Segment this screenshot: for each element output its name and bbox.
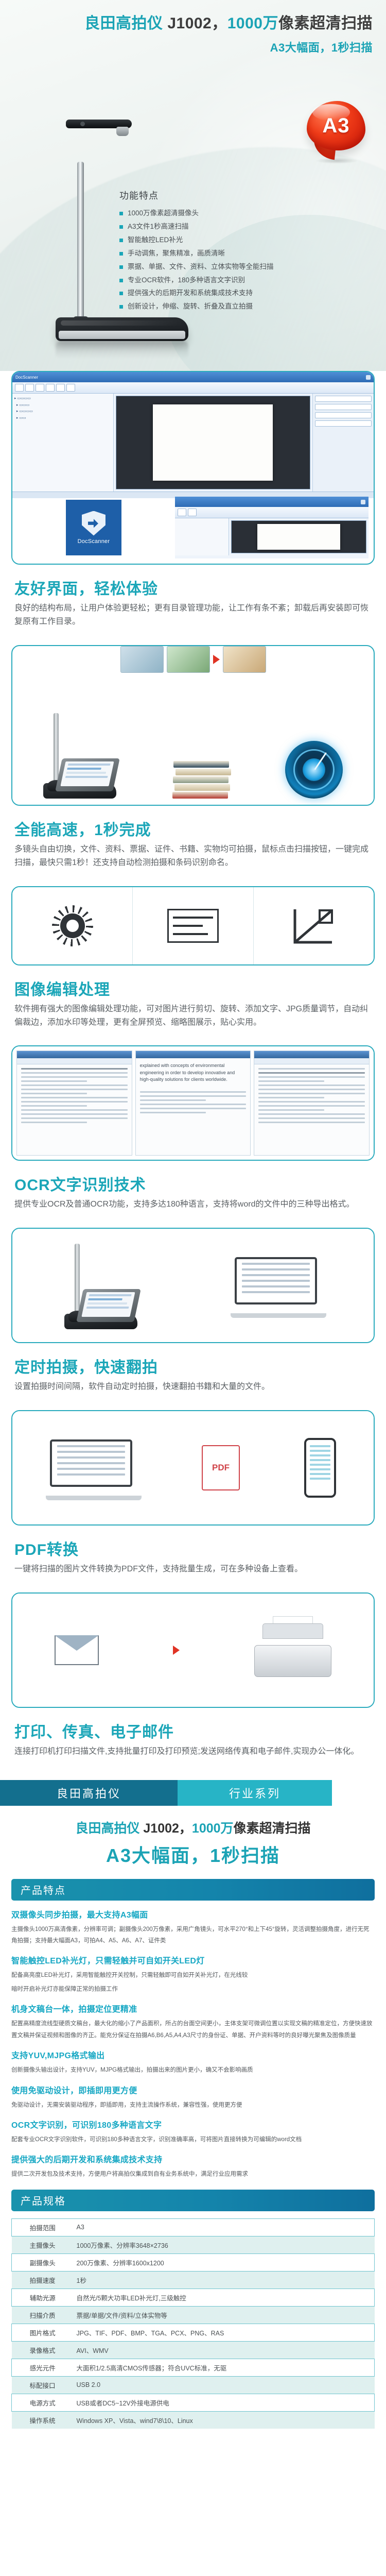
timed-capture-frame — [11, 1228, 375, 1343]
section-heading: OCR文字识别技术 — [14, 1172, 375, 1195]
pdf-illustration-frame: PDF — [11, 1410, 375, 1526]
scanner-column — [75, 1244, 80, 1317]
ocr-panes: explained with concepts of environmental… — [12, 1046, 374, 1160]
spec-value: A3 — [74, 2218, 375, 2236]
book-stack-icon — [172, 749, 233, 799]
scanner-document-pad — [59, 331, 185, 339]
scanner-tray — [56, 758, 120, 791]
feature-title: OCR文字识别，可识别180多种语言文字 — [11, 2118, 375, 2130]
app-main-area — [175, 518, 369, 555]
list-item: 1000万像素超清摄像头 — [119, 207, 356, 220]
spec-value: AVI、WMV — [74, 2341, 375, 2359]
section-friendly-interface: DocScanner ▸ ▭▭▭▭ ▸ ▭▭▭ ▸ ▭▭▭▭ ▸ ▭▭ — [0, 371, 386, 645]
arrow-right-icon — [173, 1646, 180, 1655]
section-heading: 图像编辑处理 — [14, 977, 375, 999]
spec-key: 辅助光源 — [12, 2289, 74, 2306]
app-main-area: ▸ ▭▭▭▭ ▸ ▭▭▭ ▸ ▭▭▭▭ ▸ ▭▭ — [12, 394, 374, 492]
spec-key: 拍摄范围 — [12, 2218, 74, 2236]
spec-value: 自然光/5颗大功率LED补光灯,三级触控 — [74, 2289, 375, 2306]
a3-badge: A3 — [307, 101, 365, 150]
lower-title-block: 良田高拍仪 J1002，1000万像素超清扫描 A3大幅面，1秒扫描 — [0, 1806, 386, 1870]
table-row: 感光元件大面积1/2.5高清CMOS传感器；符合UVC标准，无驱 — [12, 2359, 375, 2376]
gauge-core — [303, 758, 325, 781]
list-item: 票据、单据、文件、资料、立体实物等全能扫描 — [119, 260, 356, 274]
spec-header: 产品规格 — [11, 2190, 375, 2211]
spec-value: 票据/单据/文件/资料/立体实物等 — [74, 2306, 375, 2324]
laptop-icon — [235, 1257, 322, 1314]
product-features-body: 双摄像头同步拍摄，最大支持A3幅面 主摄像头1000万高清像素，分辨率可调；副摄… — [0, 1908, 386, 2180]
table-row: 电源方式USB或者DC5~12V外接电源供电 — [12, 2394, 375, 2411]
ocr-output-pane[interactable] — [254, 1050, 370, 1156]
hero-subtitle: A3大幅面，1秒扫描 — [84, 39, 373, 55]
printer-body — [254, 1645, 331, 1677]
speed-gauge-icon — [285, 741, 343, 799]
speed-illustration-strip — [12, 676, 374, 805]
scanner-device-small — [64, 1242, 142, 1329]
desktop-icon-row: DocScanner — [12, 492, 374, 564]
feature-paragraph: 创新摄像头输出设计，支持YUV，MJPG格式输出，拍摄出来的图片更小，确又不会影… — [11, 2064, 375, 2076]
printer-tray — [262, 1623, 323, 1639]
spec-value: 200万像素、分辨率1600x1200 — [74, 2253, 375, 2271]
a3-badge-label: A3 — [307, 101, 365, 150]
email-envelope-icon — [55, 1635, 99, 1665]
feature-highlights: 功能特点 1000万像素超清摄像头 A3文件1秒高速扫描 智能触控LED补光 手… — [119, 189, 356, 313]
table-row: 操作系统Windows XP、Vista、wind7\8\10、Linux — [12, 2411, 375, 2429]
section-heading: 友好界面，轻松体验 — [14, 576, 375, 599]
receipt-thumbnail — [223, 646, 266, 673]
editing-icons-strip — [12, 887, 374, 964]
window-close-icon[interactable] — [361, 500, 365, 504]
laptop-screen — [235, 1257, 317, 1304]
software-screenshot-frame: DocScanner ▸ ▭▭▭▭ ▸ ▭▭▭ ▸ ▭▭▭▭ ▸ ▭▭ — [11, 371, 375, 565]
list-item: 智能触控LED补光 — [119, 233, 356, 247]
spec-value: USB 2.0 — [74, 2376, 375, 2394]
lower-title-megapixels: 1000万 — [192, 1821, 234, 1836]
spec-key: 扫描介质 — [12, 2306, 74, 2324]
product-detail-page: 良田高拍仪 J1002，1000万像素超清扫描 A3大幅面，1秒扫描 A3 功能… — [0, 0, 386, 2444]
scanned-text-lines — [17, 1064, 132, 1129]
hero-title-block: 良田高拍仪 J1002，1000万像素超清扫描 A3大幅面，1秒扫描 — [84, 13, 373, 55]
app-toolbar — [175, 507, 369, 518]
spec-key: 主摄像头 — [12, 2236, 74, 2253]
feature-title: 使用免驱动设计，即插即用更方便 — [11, 2083, 375, 2096]
feature-title: 双摄像头同步拍摄，最大支持A3幅面 — [11, 1908, 375, 1920]
section-image-editing: 图像编辑处理 软件拥有强大的图像编辑处理功能，可对图片进行剪切、旋转、添加文字、… — [0, 886, 386, 1046]
table-row: 标配接口USB 2.0 — [12, 2376, 375, 2394]
spec-value: JPG、TIF、PDF、BMP、TGA、PCX、PNG、RAS — [74, 2324, 375, 2341]
laptop-icon — [50, 1439, 137, 1496]
docscanner-app-window: DocScanner ▸ ▭▭▭▭ ▸ ▭▭▭ ▸ ▭▭▭▭ ▸ ▭▭ — [12, 372, 374, 492]
table-row: 图片格式JPG、TIF、PDF、BMP、TGA、PCX、PNG、RAS — [12, 2324, 375, 2341]
document-thumbnail — [120, 646, 164, 673]
feature-paragraph: 免驱动设计，无需安装驱动程序，即插即用，支持主流操作系统，兼容性强，使用更方便 — [11, 2099, 375, 2111]
feature-title: 机身文稿台一体，拍摄定位更精准 — [11, 2002, 375, 2014]
ocr-source-pane[interactable] — [16, 1050, 132, 1156]
section-pdf-conversion: PDF PDF转换 一键将扫描的图片文件转换为PDF文件，支持批量生成，可在多种… — [0, 1410, 386, 1592]
list-item: 提供强大的后期开发和系统集成技术支持 — [119, 286, 356, 300]
feature-highlights-title: 功能特点 — [119, 189, 356, 202]
app-titlebar: DocScanner — [12, 372, 374, 382]
app-preview-canvas[interactable] — [231, 520, 366, 553]
hero-title-megapixels: 1000万 — [227, 15, 278, 32]
app-titlebar-label: DocScanner — [15, 375, 38, 380]
spec-key: 电源方式 — [12, 2394, 74, 2411]
scanner-reflection — [56, 341, 188, 359]
crop-icon — [293, 907, 334, 944]
brand-label: 良田高拍仪 — [0, 1780, 178, 1806]
section-body: 良好的结构布局，让用户体验更轻松；更有目录管理功能，让工作有条不紊；卸载后再安装… — [14, 602, 372, 629]
panel-button[interactable] — [315, 420, 372, 427]
list-item: A3文件1秒高速扫描 — [119, 220, 356, 233]
list-item: 创新设计，伸缩、旋转、折叠及直立拍摄 — [119, 300, 356, 313]
recognized-text-preview: explained with concepts of environmental… — [136, 1058, 251, 1088]
panel-button[interactable] — [315, 396, 372, 402]
section-ocr: explained with concepts of environmental… — [0, 1045, 386, 1228]
toolbar-button[interactable] — [188, 509, 197, 516]
preview-document — [257, 524, 341, 550]
app-preview-canvas[interactable] — [116, 396, 310, 489]
app-side-panel — [312, 394, 374, 492]
panel-button[interactable] — [315, 412, 372, 418]
section-print-fax-email: 打印、传真、电子邮件 连接打印机打印扫描文件,支持批量打印及打印预览;发送网络传… — [0, 1592, 386, 1775]
ocr-screenshot-frame: explained with concepts of environmental… — [11, 1045, 375, 1161]
pdf-file-icon: PDF — [202, 1445, 240, 1490]
smartphone-icon — [304, 1438, 336, 1498]
pane-toolbar — [17, 1058, 132, 1064]
table-row: 辅助光源自然光/5颗大功率LED补光灯,三级触控 — [12, 2289, 375, 2306]
toolbar-button[interactable] — [66, 384, 75, 392]
spec-key: 拍摄速度 — [12, 2271, 74, 2289]
pane-titlebar — [254, 1051, 369, 1058]
spec-key: 操作系统 — [12, 2411, 74, 2429]
feature-title: 提供强大的后期开发和系统集成技术支持 — [11, 2153, 375, 2165]
table-row: 扫描介质票据/单据/文件/资料/立体实物等 — [12, 2306, 375, 2324]
pane-titlebar — [17, 1051, 132, 1058]
section-all-purpose-speed: 全能高速，1秒完成 多镜头自由切换，文件、资料、票据、证件、书籍、实物均可拍摄，… — [0, 645, 386, 886]
section-timed-capture: 定时拍摄，快速翻拍 设置拍摄时间间隔，软件自动定时拍摄，快速翻拍书籍和大量的文件… — [0, 1228, 386, 1410]
section-body: 软件拥有强大的图像编辑处理功能，可对图片进行剪切、旋转、添加文字、JPG质量调节… — [14, 1003, 372, 1029]
section-body: 设置拍摄时间间隔，软件自动定时拍摄，快速翻拍书籍和大量的文件。 — [14, 1380, 372, 1394]
spec-key: 录像格式 — [12, 2341, 74, 2359]
pane-toolbar — [254, 1058, 369, 1064]
spec-value: 大面积1/2.5高清CMOS传感器；符合UVC标准，无驱 — [74, 2359, 375, 2376]
a3-badge-shadow — [315, 158, 358, 164]
timed-capture-illustration — [12, 1229, 374, 1342]
feature-title: 智能触控LED补光灯，只需轻触并可自如开关LED灯 — [11, 1954, 375, 1966]
spec-key: 图片格式 — [12, 2324, 74, 2341]
document-frame-icon — [167, 909, 219, 943]
toolbar-button[interactable] — [36, 384, 44, 392]
section-body: 连接打印机打印扫描文件,支持批量打印及打印预览;发送网络传真和电子邮件,实现办公… — [14, 1745, 372, 1758]
laptop-base — [46, 1496, 142, 1500]
lower-title-model: J1002， — [139, 1821, 191, 1836]
product-features-header: 产品特点 — [11, 1879, 375, 1901]
id-card-thumbnail — [167, 646, 210, 673]
lower-title-tail: 像素超清扫描 — [234, 1821, 311, 1836]
directory-tree-content: ▸ ▭▭▭▭ ▸ ▭▭▭ ▸ ▭▭▭▭ ▸ ▭▭ — [14, 396, 111, 421]
app-titlebar — [175, 497, 369, 507]
feature-paragraph: 主摄像头1000万高清像素，分辨率可调；副摄像头200万像素，采用广角镜头，可水… — [11, 1924, 375, 1947]
section-body: 多镜头自由切换，文件、资料、票据、证件、书籍、实物均可拍摄，鼠标点击扫描按钮，一… — [14, 843, 372, 870]
app-toolbar — [12, 382, 374, 394]
shield-icon — [82, 511, 106, 536]
hero-title-brand: 良田高拍仪 — [84, 15, 163, 32]
hero-banner: 良田高拍仪 J1002，1000万像素超清扫描 A3大幅面，1秒扫描 A3 功能… — [0, 0, 386, 371]
word-output-lines — [254, 1064, 369, 1129]
app-directory-tree[interactable] — [175, 518, 229, 555]
spec-key: 标配接口 — [12, 2376, 74, 2394]
hero-title-model: J1002， — [163, 15, 227, 32]
app-directory-tree[interactable]: ▸ ▭▭▭▭ ▸ ▭▭▭ ▸ ▭▭▭▭ ▸ ▭▭ — [12, 394, 114, 492]
section-body: 一键将扫描的图片文件转换为PDF文件，支持批量生成，可在多种设备上查看。 — [14, 1563, 372, 1576]
list-item: 专业OCR软件，180多种语言文字识别 — [119, 274, 356, 287]
feature-paragraph: 暗时开启补光灯亦能保障正常的拍摄工作 — [11, 1984, 375, 1995]
hero-title: 良田高拍仪 J1002，1000万像素超清扫描 — [84, 13, 373, 35]
crop-cell — [254, 887, 374, 964]
scanner-led-icon — [80, 122, 85, 126]
document-cell — [133, 887, 253, 964]
app-icon-label: DocScanner — [78, 538, 110, 545]
table-row: 拍摄速度1秒 — [12, 2271, 375, 2289]
spec-table: 拍摄范围A3 主摄像头1000万像素、分辨率3648×2736 副摄像头200万… — [11, 2218, 375, 2429]
section-body: 提供专业OCR及普通OCR功能，支持多达180种语言，支持将word的文件中的三… — [14, 1198, 372, 1211]
table-row: 拍摄范围A3 — [12, 2218, 375, 2236]
list-item: 手动调焦，聚焦精准，画质清晰 — [119, 247, 356, 260]
pane-titlebar — [136, 1051, 251, 1058]
spec-value: Windows XP、Vista、wind7\8\10、Linux — [74, 2411, 375, 2429]
series-label: 行业系列 — [178, 1780, 332, 1806]
pdf-illustration: PDF — [12, 1411, 374, 1524]
spec-key: 感光元件 — [12, 2359, 74, 2376]
feature-highlights-list: 1000万像素超清摄像头 A3文件1秒高速扫描 智能触控LED补光 手动调焦，聚… — [119, 207, 356, 313]
toolbar-button[interactable] — [15, 384, 24, 392]
spec-value: USB或者DC5~12V外接电源供电 — [74, 2394, 375, 2411]
panel-button[interactable] — [315, 404, 372, 410]
window-close-icon[interactable] — [366, 375, 371, 380]
section-heading: 定时拍摄，快速翻拍 — [14, 1354, 375, 1377]
feature-paragraph: 配备高亮度LED补光灯，采用智能触控开关控制，只需轻触即可自如开关补光灯，在光线… — [11, 1970, 375, 1981]
table-row: 主摄像头1000万像素、分辨率3648×2736 — [12, 2236, 375, 2253]
lower-title-brand: 良田高拍仪 — [75, 1821, 139, 1836]
hero-title-tail: 像素超清扫描 — [278, 15, 373, 32]
speed-illustration-frame — [11, 645, 375, 806]
docscanner-app-icon[interactable]: DocScanner — [66, 500, 121, 555]
brightness-icon — [60, 913, 85, 938]
print-illustration-frame — [11, 1592, 375, 1708]
media-thumbnails-row — [12, 646, 374, 676]
scanned-page — [61, 761, 114, 786]
section-heading: 打印、传真、电子邮件 — [14, 1719, 375, 1742]
brightness-cell — [12, 887, 133, 964]
desktop-icon-cell: DocScanner — [12, 492, 175, 564]
laptop-screen — [50, 1439, 132, 1487]
lower-title-line2: A3大幅面，1秒扫描 — [0, 1841, 386, 1868]
feature-title: 支持YUV,MJPG格式输出 — [11, 2048, 375, 2061]
toolbar-button[interactable] — [56, 384, 65, 392]
brand-series-bar: 良田高拍仪 行业系列 — [0, 1780, 386, 1806]
crop-icon-svg — [293, 907, 334, 944]
feature-paragraph: 配套专业OCR文字识别软件，可识别180多种语言文字，识别准确率高，可将图片直接… — [11, 2134, 375, 2145]
secondary-app-window — [175, 497, 369, 558]
section-heading: PDF转换 — [14, 1537, 375, 1560]
brandbar-spacer — [332, 1780, 386, 1806]
printer-icon — [254, 1623, 331, 1677]
laptop-base — [231, 1313, 326, 1318]
section-heading: 全能高速，1秒完成 — [14, 817, 375, 840]
feature-paragraph: 提供二次开发包及技术支持，方便用户将高拍仪集成到自有业务系统中，满足行业应用需求 — [11, 2168, 375, 2180]
spec-value: 1秒 — [74, 2271, 375, 2289]
editing-icons-frame — [11, 886, 375, 965]
spec-key: 副摄像头 — [12, 2253, 74, 2271]
scanner-tray — [76, 1289, 141, 1322]
lower-title-line1: 良田高拍仪 J1002，1000万像素超清扫描 — [0, 1819, 386, 1839]
scanner-device-small — [43, 711, 120, 799]
table-row: 副摄像头200万像素、分辨率1600x1200 — [12, 2253, 375, 2271]
toolbar-button[interactable] — [25, 384, 34, 392]
ocr-zoom-pane[interactable]: explained with concepts of environmental… — [135, 1050, 251, 1156]
scanner-camera-lens — [116, 127, 129, 136]
docscanner-window-thumb — [175, 492, 374, 564]
scanner-column — [77, 162, 84, 323]
toolbar-button[interactable] — [178, 509, 186, 516]
scanned-page — [81, 1292, 135, 1317]
spec-value: 1000万像素、分辨率3648×2736 — [74, 2236, 375, 2253]
feature-paragraph: 配置高精度流线型硬质文稿台，最大化的缩小了产品面积，所占的台面空间更小，主体支架… — [11, 2018, 375, 2041]
arrow-right-icon — [213, 655, 220, 664]
recognized-text-lines — [136, 1088, 251, 1120]
table-row: 录像格式AVI、WMV — [12, 2341, 375, 2359]
preview-document — [153, 404, 273, 481]
toolbar-button[interactable] — [46, 384, 55, 392]
print-illustration — [12, 1594, 374, 1707]
